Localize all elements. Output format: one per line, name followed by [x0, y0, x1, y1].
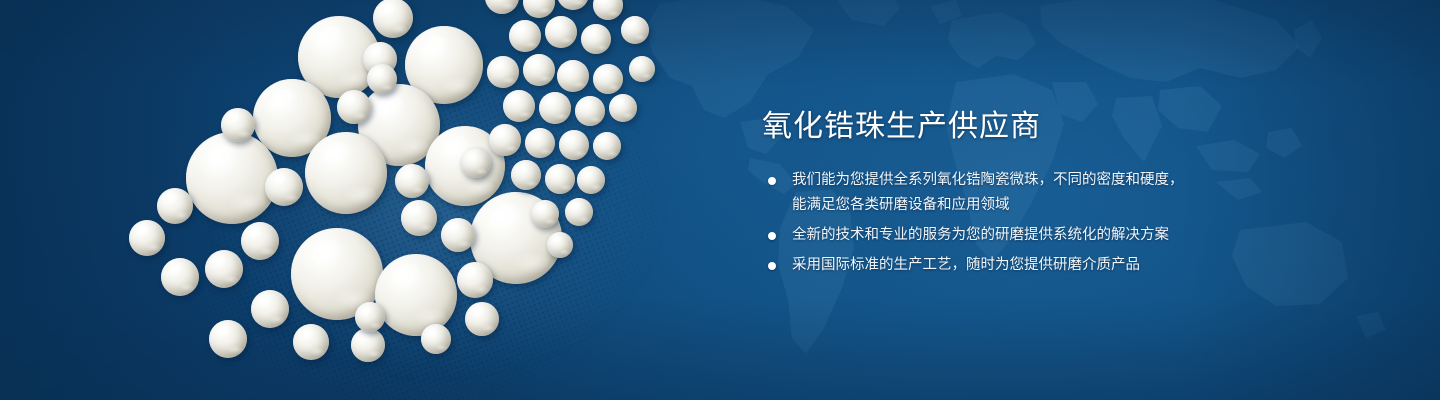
banner-content: 氧化锆珠生产供应商 我们能为您提供全系列氧化锆陶瓷微珠，不同的密度和硬度， 能满…: [762, 108, 1282, 283]
feature-text-line2: 能满足您各类研磨设备和应用领域: [792, 193, 1282, 218]
hero-banner: 氧化锆珠生产供应商 我们能为您提供全系列氧化锆陶瓷微珠，不同的密度和硬度， 能满…: [0, 0, 1440, 400]
feature-item: 全新的技术和专业的服务为您的研磨提供系统化的解决方案: [762, 223, 1282, 248]
zirconia-bead-cluster-photo: [105, 0, 745, 400]
feature-text-line1: 全新的技术和专业的服务为您的研磨提供系统化的解决方案: [792, 227, 1169, 243]
feature-text-line1: 我们能为您提供全系列氧化锆陶瓷微珠，不同的密度和硬度，: [792, 172, 1184, 188]
banner-title: 氧化锆珠生产供应商: [762, 108, 1282, 146]
bead-group: [105, 0, 745, 400]
feature-item: 我们能为您提供全系列氧化锆陶瓷微珠，不同的密度和硬度， 能满足您各类研磨设备和应…: [762, 168, 1282, 218]
feature-item: 采用国际标准的生产工艺，随时为您提供研磨介质产品: [762, 253, 1282, 278]
bullet-dot-icon: [768, 177, 776, 185]
feature-text-line1: 采用国际标准的生产工艺，随时为您提供研磨介质产品: [792, 257, 1140, 273]
bullet-dot-icon: [768, 232, 776, 240]
feature-list: 我们能为您提供全系列氧化锆陶瓷微珠，不同的密度和硬度， 能满足您各类研磨设备和应…: [762, 168, 1282, 278]
bullet-dot-icon: [768, 262, 776, 270]
